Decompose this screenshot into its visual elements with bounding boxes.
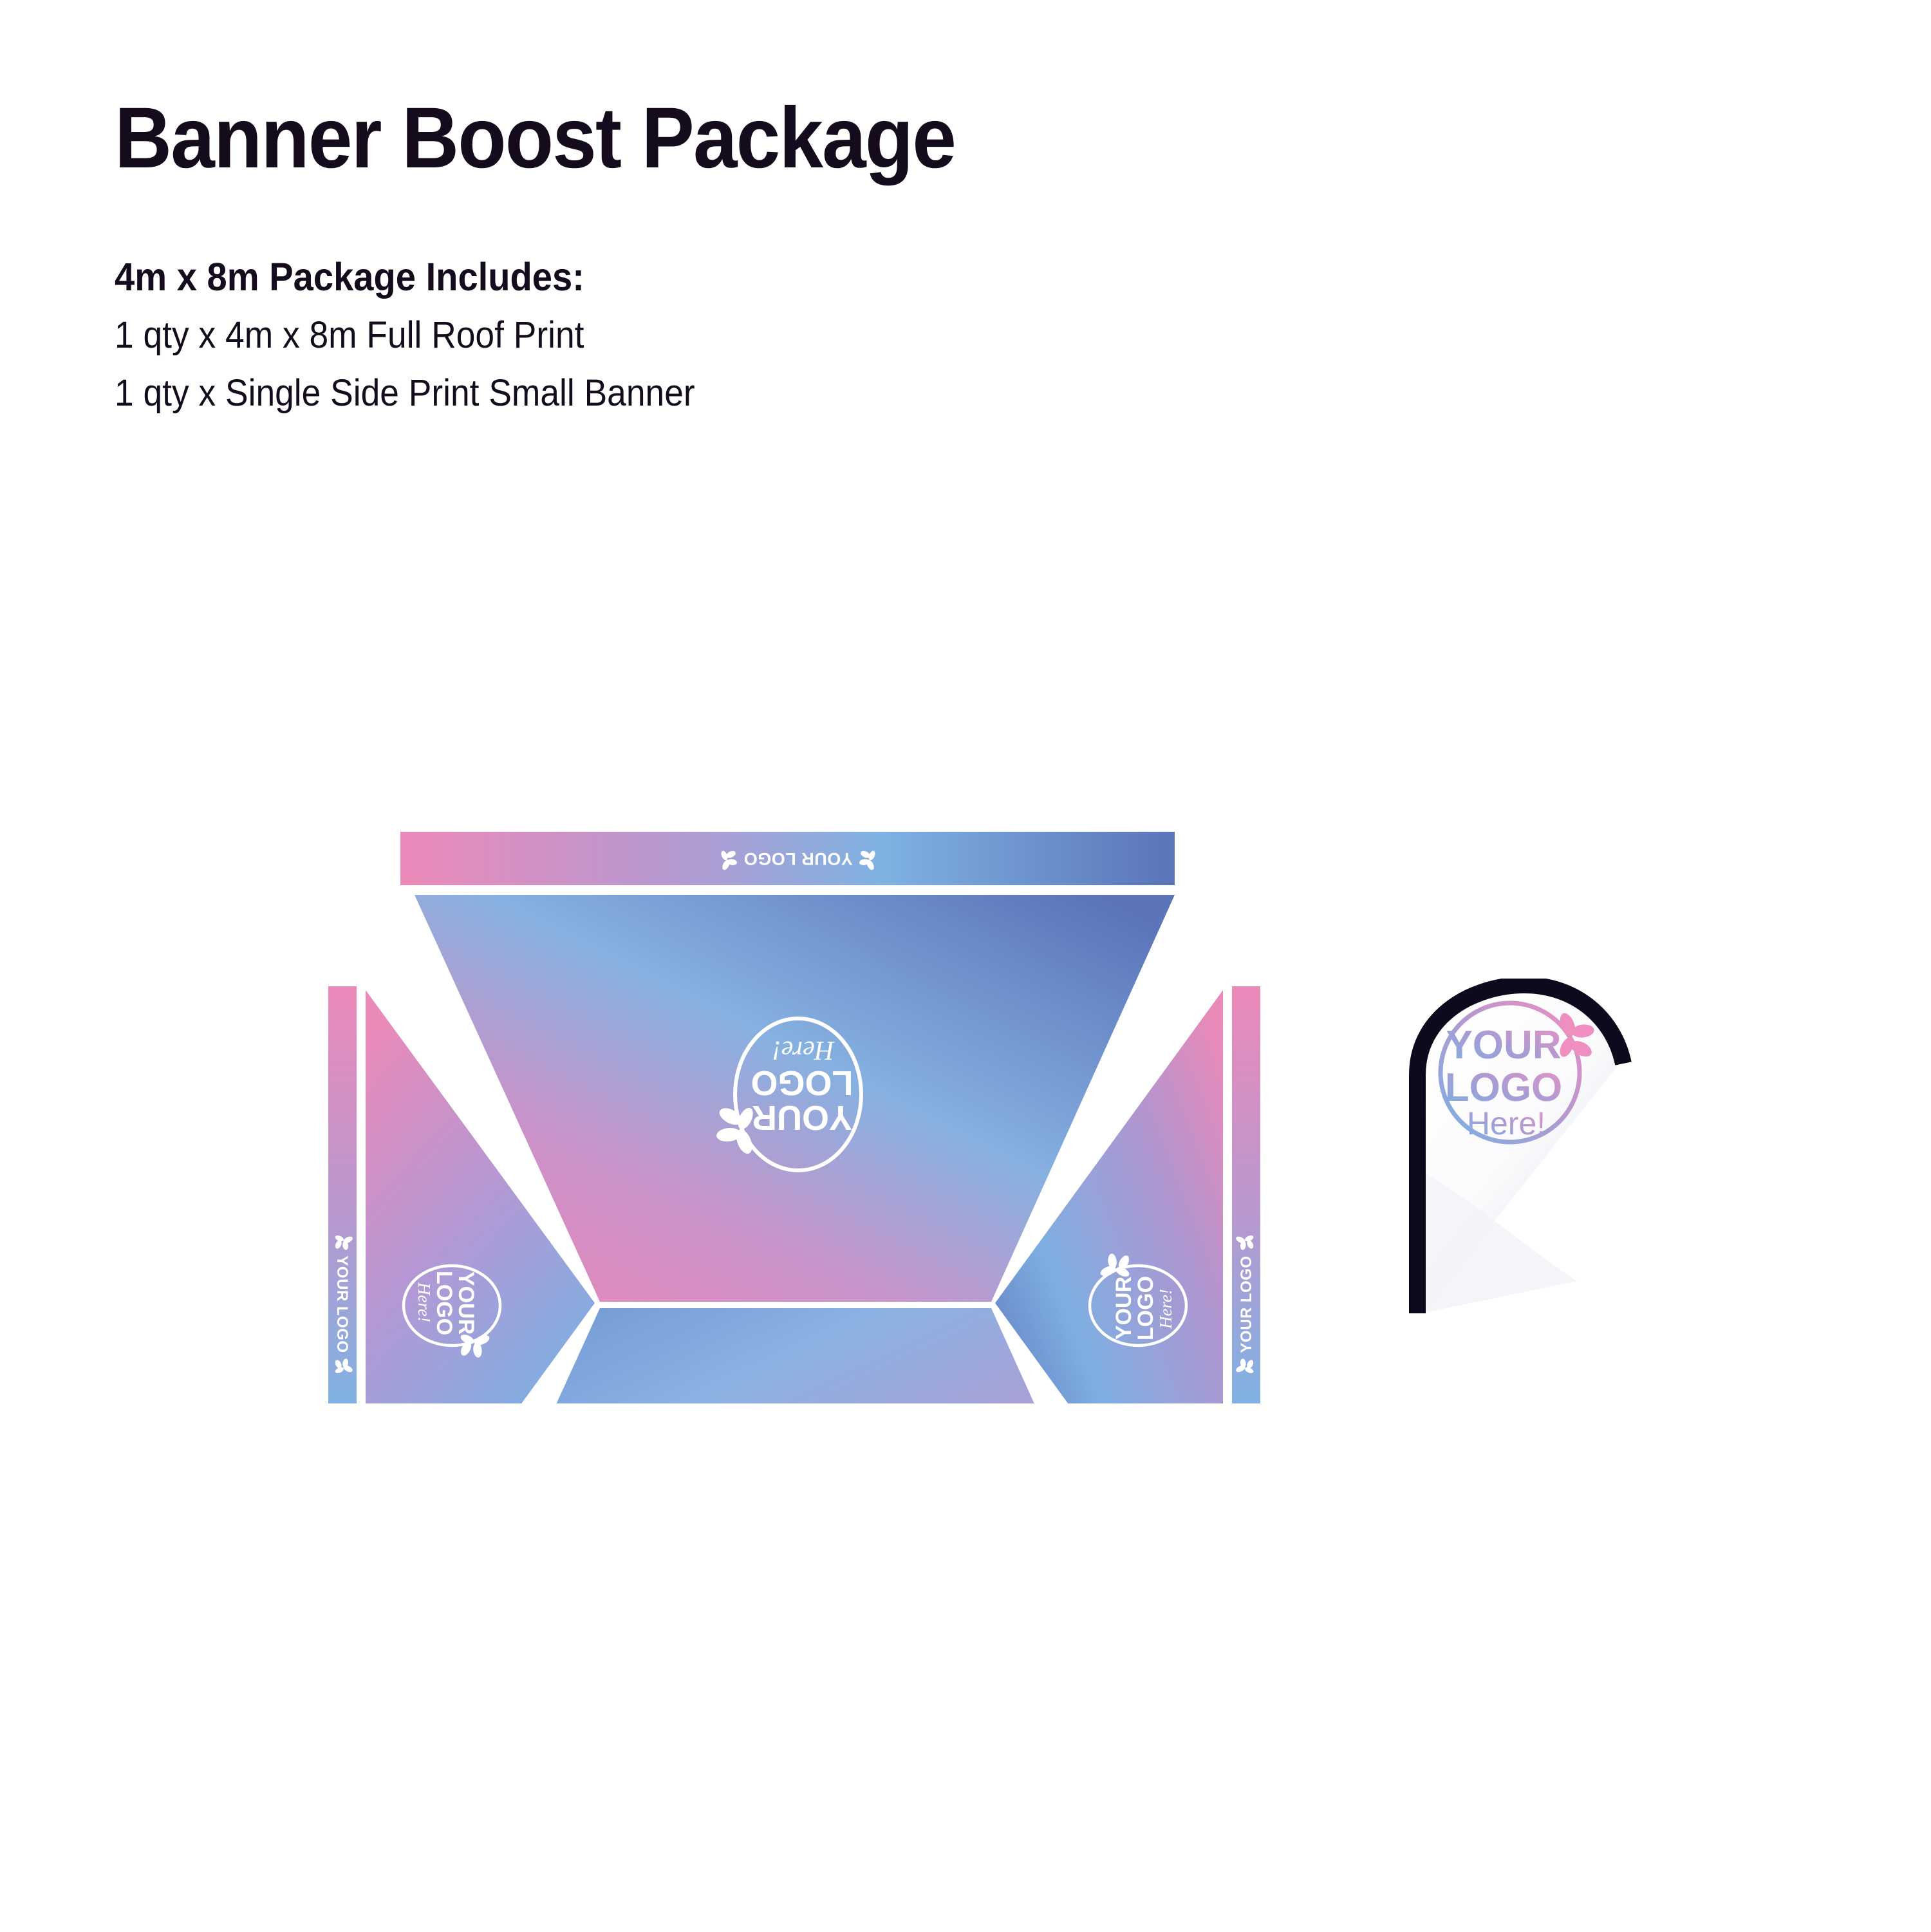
flag-logo-line1: YOUR — [1446, 1023, 1561, 1067]
valance-right-label: YOUR LOGO — [1238, 1255, 1255, 1353]
canopy-flat-lay-graphic: YOUR LOGO YOUR LOGO Here! YOUR LOGO Here… — [309, 824, 1274, 1403]
roof-logo-right-line3: Here! — [1156, 1289, 1175, 1329]
page-title: Banner Boost Package — [115, 95, 1417, 182]
valance-left: YOUR LOGO — [328, 986, 357, 1403]
roof-logo-left-line1: YOUR — [454, 1271, 478, 1335]
package-subheading: 4m x 8m Package Includes: — [115, 258, 584, 297]
roof-logo-top-line3: Here! — [772, 1035, 835, 1065]
teardrop-flag-graphic: YOUR LOGO Here! — [1384, 979, 1654, 1339]
roof-logo-right-line2: LOGO — [1133, 1276, 1158, 1340]
include-line-1: 1 qty x 4m x 8m Full Roof Print — [115, 317, 584, 354]
roof-logo-left-line2: LOGO — [432, 1271, 456, 1335]
roof-logo-top-line1: YOUR — [752, 1098, 852, 1137]
valance-right: YOUR LOGO — [1232, 986, 1260, 1403]
valance-left-label: YOUR LOGO — [333, 1255, 351, 1353]
include-line-2: 1 qty x Single Side Print Small Banner — [115, 375, 695, 412]
flag-logo-line3: Here! — [1467, 1105, 1545, 1141]
flag-logo-line2: LOGO — [1445, 1065, 1563, 1110]
roof-logo-right-line1: YOUR — [1112, 1277, 1136, 1340]
roof-logo-left-line3: Here! — [415, 1282, 434, 1322]
valance-top: YOUR LOGO — [400, 832, 1175, 885]
header-text-block: Banner Boost Package 4m x 8m Package Inc… — [115, 95, 1531, 182]
valance-top-label: YOUR LOGO — [743, 849, 853, 868]
roof-logo-top-line2: LOGO — [751, 1064, 854, 1102]
